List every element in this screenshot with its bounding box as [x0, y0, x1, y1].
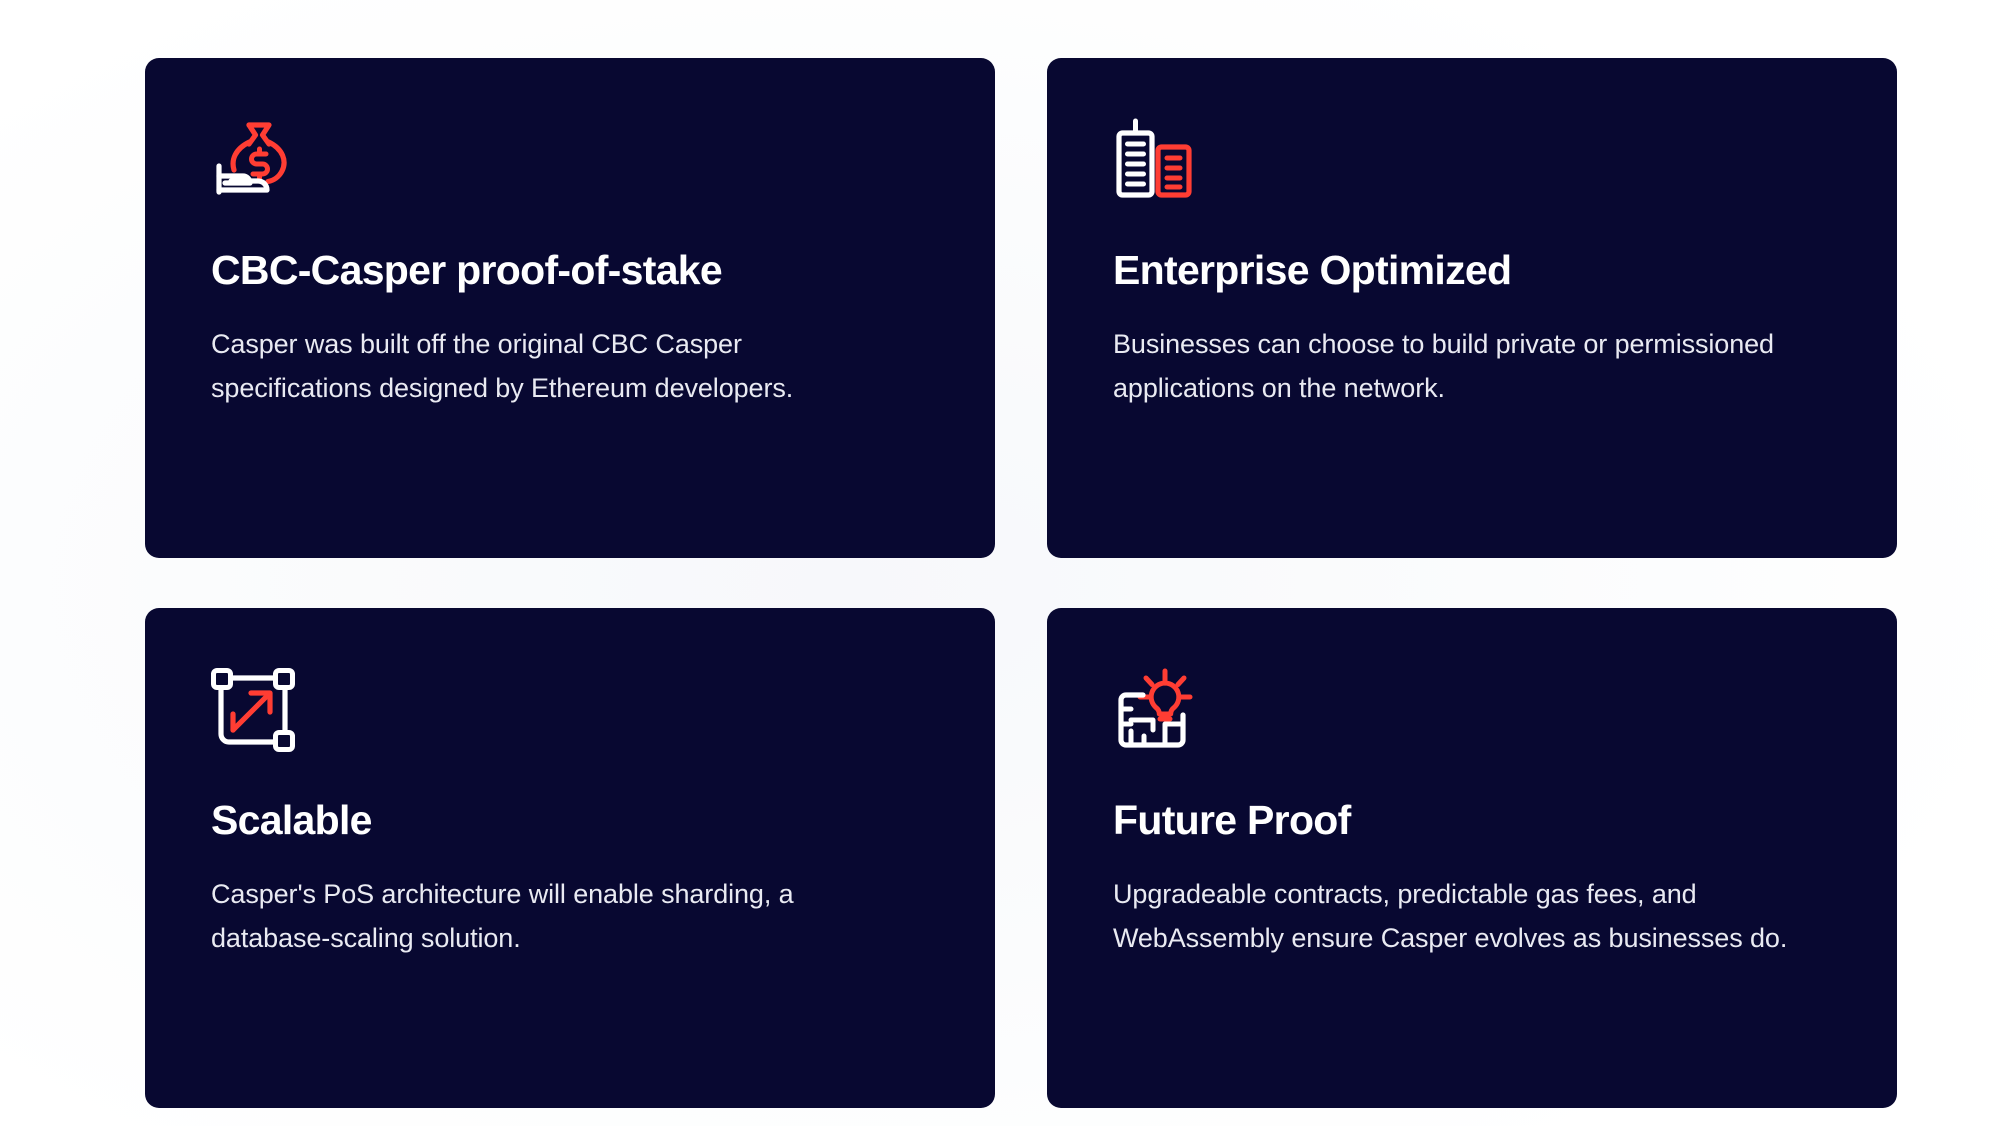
feature-card-grid: CBC-Casper proof-of-stake Casper was bui… [145, 58, 1897, 1068]
money-bag-icon [211, 118, 295, 202]
feature-card-enterprise-optimized[interactable]: Enterprise Optimized Businesses can choo… [1047, 58, 1897, 558]
feature-card-body: Businesses can choose to build private o… [1113, 322, 1803, 410]
feature-card-body: Casper's PoS architecture will enable sh… [211, 872, 901, 960]
resize-arrow-icon [211, 668, 295, 752]
feature-card-cbc-casper[interactable]: CBC-Casper proof-of-stake Casper was bui… [145, 58, 995, 558]
office-buildings-icon [1113, 118, 1197, 202]
feature-card-body: Casper was built off the original CBC Ca… [211, 322, 901, 410]
feature-card-title: Scalable [211, 798, 929, 844]
feature-card-title: CBC-Casper proof-of-stake [211, 248, 929, 294]
feature-card-future-proof[interactable]: Future Proof Upgradeable contracts, pred… [1047, 608, 1897, 1108]
feature-card-scalable[interactable]: Scalable Casper's PoS architecture will … [145, 608, 995, 1108]
feature-card-title: Enterprise Optimized [1113, 248, 1831, 294]
feature-card-title: Future Proof [1113, 798, 1831, 844]
feature-card-body: Upgradeable contracts, predictable gas f… [1113, 872, 1803, 960]
lightbulb-circuit-icon [1113, 668, 1197, 752]
